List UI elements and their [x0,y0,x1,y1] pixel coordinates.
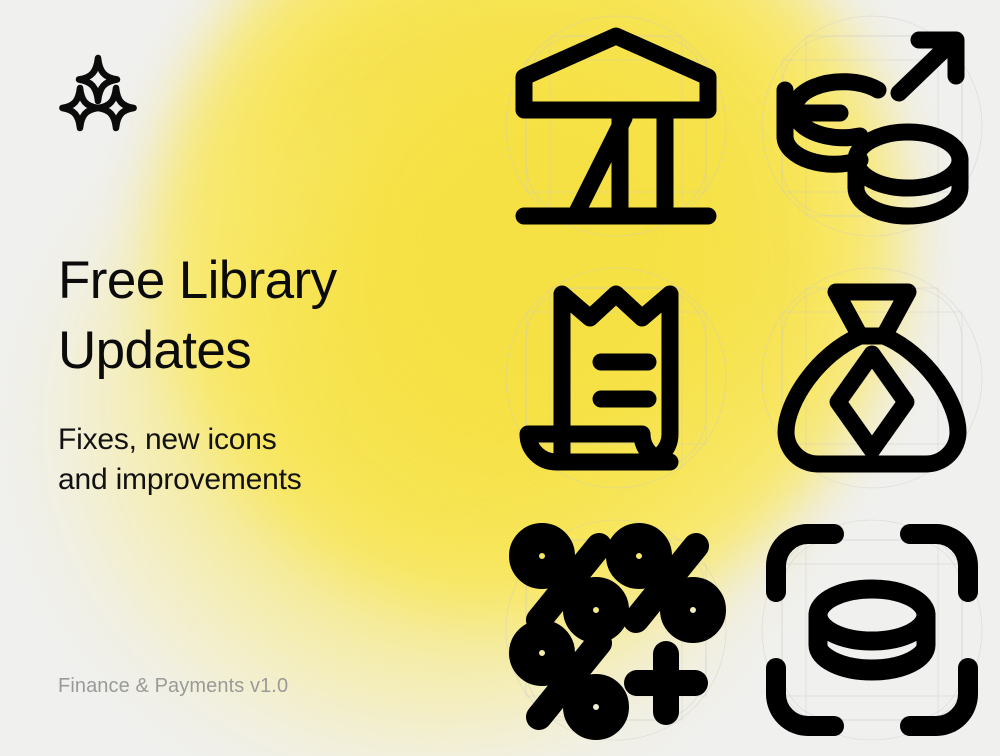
subhead-line-2: and improvements [58,460,458,500]
subhead-line-1: Fixes, new icons [58,420,458,460]
icon-cell-coins-growth [744,0,1000,252]
text-column: Free Library Updates Fixes, new icons an… [0,0,500,756]
icon-cell-scan-coin [744,504,1000,756]
page-subtitle: Fixes, new icons and improvements [58,420,458,500]
icon-cell-bank [488,0,744,252]
icon-cell-receipt [488,252,744,504]
icon-cell-percentages [488,504,744,756]
icon-cell-money-bag [744,252,1000,504]
coins-growth-icon [756,10,988,242]
icon-preview-grid [488,0,1000,756]
sparkles-icon [58,52,150,132]
percentages-icon [500,514,732,746]
page-title: Free Library Updates [58,246,478,387]
promo-card: Free Library Updates Fixes, new icons an… [0,0,1000,756]
headline-line-2: Updates [58,316,478,386]
bank-icon [500,10,732,242]
library-version-label: Finance & Payments v1.0 [58,675,288,698]
money-bag-icon [756,262,988,494]
scan-coin-icon [756,514,988,746]
receipt-icon [500,262,732,494]
headline-line-1: Free Library [58,246,478,316]
